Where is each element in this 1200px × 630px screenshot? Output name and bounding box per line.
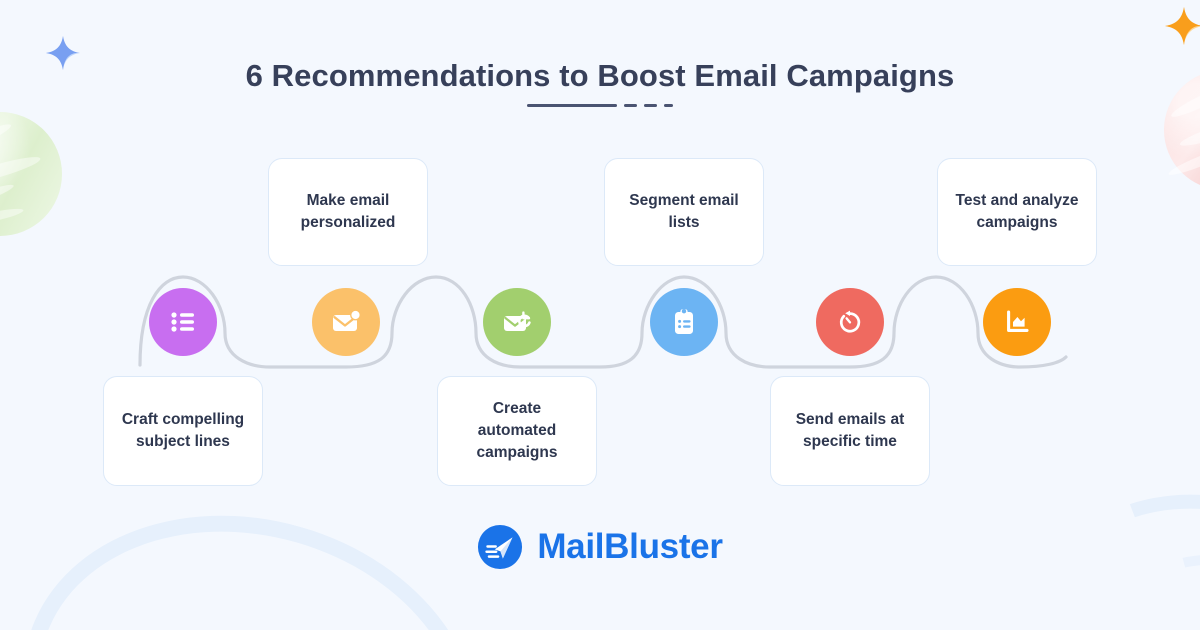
infographic-canvas: 6 Recommendations to Boost Email Campaig… [0, 0, 1200, 630]
card-label: Make email personalized [301, 190, 396, 234]
area-chart-icon [1000, 305, 1034, 339]
step-icon-stopwatch[interactable] [816, 288, 884, 356]
step-icon-envelope-notification[interactable] [312, 288, 380, 356]
step-icon-area-chart[interactable] [983, 288, 1051, 356]
card-label: Test and analyze campaigns [956, 190, 1079, 234]
brand-logo[interactable]: MailBluster [0, 524, 1200, 570]
card-send-emails-at-specific-time[interactable]: Send emails at specific time [770, 376, 930, 486]
green-planet-decoration [0, 112, 62, 236]
card-label: Create automated campaigns [477, 398, 558, 464]
brand-name: MailBluster [537, 527, 722, 567]
bullet-list-icon [166, 305, 200, 339]
paper-plane-logo-icon [477, 524, 523, 570]
step-icon-clipboard-list[interactable] [650, 288, 718, 356]
rule-solid-segment [527, 104, 617, 107]
rule-dash-segment [664, 104, 673, 107]
card-segment-email-lists[interactable]: Segment email lists [604, 158, 764, 266]
stopwatch-icon [833, 305, 867, 339]
card-create-automated-campaigns[interactable]: Create automated campaigns [437, 376, 597, 486]
card-craft-compelling-subject-lines[interactable]: Craft compelling subject lines [103, 376, 263, 486]
rule-dash-segment [644, 104, 657, 107]
title-underline-rule [0, 104, 1200, 107]
card-label: Send emails at specific time [796, 409, 905, 453]
envelope-refresh-icon [499, 304, 535, 340]
page-title: 6 Recommendations to Boost Email Campaig… [0, 58, 1200, 94]
orange-sparkle-icon [1163, 5, 1200, 47]
card-label: Craft compelling subject lines [122, 409, 244, 453]
clipboard-list-icon [667, 305, 701, 339]
step-icon-bullet-list[interactable] [149, 288, 217, 356]
card-label: Segment email lists [629, 190, 738, 234]
envelope-notification-icon [328, 304, 364, 340]
step-icon-envelope-automation[interactable] [483, 288, 551, 356]
card-make-email-personalized[interactable]: Make email personalized [268, 158, 428, 266]
card-test-and-analyze-campaigns[interactable]: Test and analyze campaigns [937, 158, 1097, 266]
rule-dash-segment [624, 104, 637, 107]
